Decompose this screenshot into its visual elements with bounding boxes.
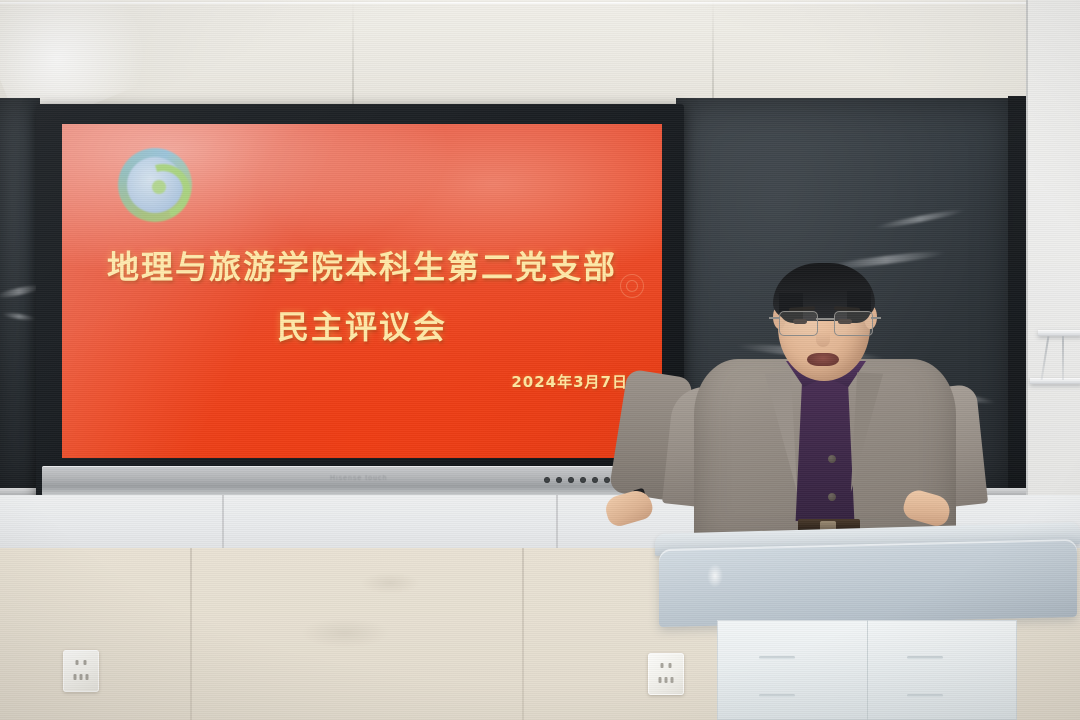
glasses-temple-right <box>871 317 881 319</box>
display-button[interactable] <box>592 477 598 483</box>
display-button[interactable] <box>568 477 574 483</box>
cabinet-divider <box>867 620 868 720</box>
outlet-pin <box>74 674 77 680</box>
outlet-upper-socket <box>76 660 87 665</box>
chalk-smear <box>2 312 36 322</box>
glasses-bridge <box>816 318 834 320</box>
lectern-podium <box>655 528 1080 720</box>
outlet-pin <box>86 674 89 680</box>
chalk-smear <box>874 207 965 230</box>
mid-wall-seam <box>222 495 224 550</box>
display-button[interactable] <box>544 477 550 483</box>
slide-date: 2024年3月7日 <box>511 371 628 392</box>
wainscot-tile-seam <box>522 548 524 720</box>
wall-shelf-lower <box>1030 378 1080 384</box>
outlet-pin <box>80 674 83 680</box>
outlet-pin <box>76 660 79 665</box>
display-control-bar[interactable]: Hisense touch <box>42 466 678 496</box>
wall-shelf-upper <box>1038 330 1080 336</box>
podium-specular-highlight <box>707 564 723 588</box>
power-outlet-left[interactable] <box>63 650 99 692</box>
display-button[interactable] <box>604 477 610 483</box>
jacket-button <box>828 493 836 501</box>
podium-front-panel <box>659 539 1077 627</box>
outlet-lower-socket <box>74 674 89 680</box>
display-button[interactable] <box>556 477 562 483</box>
cabinet-vent-slot <box>907 694 943 697</box>
wall-panel-seam <box>352 0 354 118</box>
glasses-temple-left <box>769 317 779 319</box>
classroom-photo-scene: 地理与旅游学院本科生第二党支部 民主评议会 2024年3月7日 Hisense … <box>0 0 1080 720</box>
display-button-row[interactable] <box>544 477 610 483</box>
mid-wall-seam <box>556 495 558 550</box>
podium-base-cabinet <box>717 620 1017 720</box>
wall-smudge <box>300 618 390 648</box>
blackboard-left-panel <box>0 98 40 490</box>
wall-top-edge <box>0 2 1080 4</box>
interactive-smart-display[interactable]: 地理与旅游学院本科生第二党支部 民主评议会 2024年3月7日 Hisense … <box>36 104 684 500</box>
outlet-pin <box>84 660 87 665</box>
cabinet-vent-slot <box>759 656 795 659</box>
slide-title-line-2: 民主评议会 <box>62 302 662 348</box>
display-button[interactable] <box>580 477 586 483</box>
cabinet-vent-slot <box>759 694 795 697</box>
display-brand-label: Hisense touch <box>330 475 387 482</box>
college-swirl-logo-icon <box>118 148 192 222</box>
wainscot-tile-seam <box>190 548 192 720</box>
cabinet-vent-slot <box>907 656 943 659</box>
right-wall-panel <box>1026 0 1080 560</box>
glasses-lens-right <box>834 311 873 336</box>
slide-title-line-1: 地理与旅游学院本科生第二党支部 <box>107 248 617 286</box>
presenter-mouth <box>807 353 839 366</box>
wall-smudge <box>360 572 420 594</box>
glasses-lens-left <box>779 311 818 336</box>
presenter-nose <box>816 331 830 347</box>
logo-center-dot <box>152 180 166 194</box>
shelf-bracket <box>1062 336 1064 380</box>
display-screen[interactable]: 地理与旅游学院本科生第二党支部 民主评议会 2024年3月7日 <box>62 124 662 458</box>
slide-watermark-emblem-icon <box>620 274 644 298</box>
slide-title: 地理与旅游学院本科生第二党支部 民主评议会 <box>62 242 662 348</box>
jacket-button <box>828 455 836 463</box>
